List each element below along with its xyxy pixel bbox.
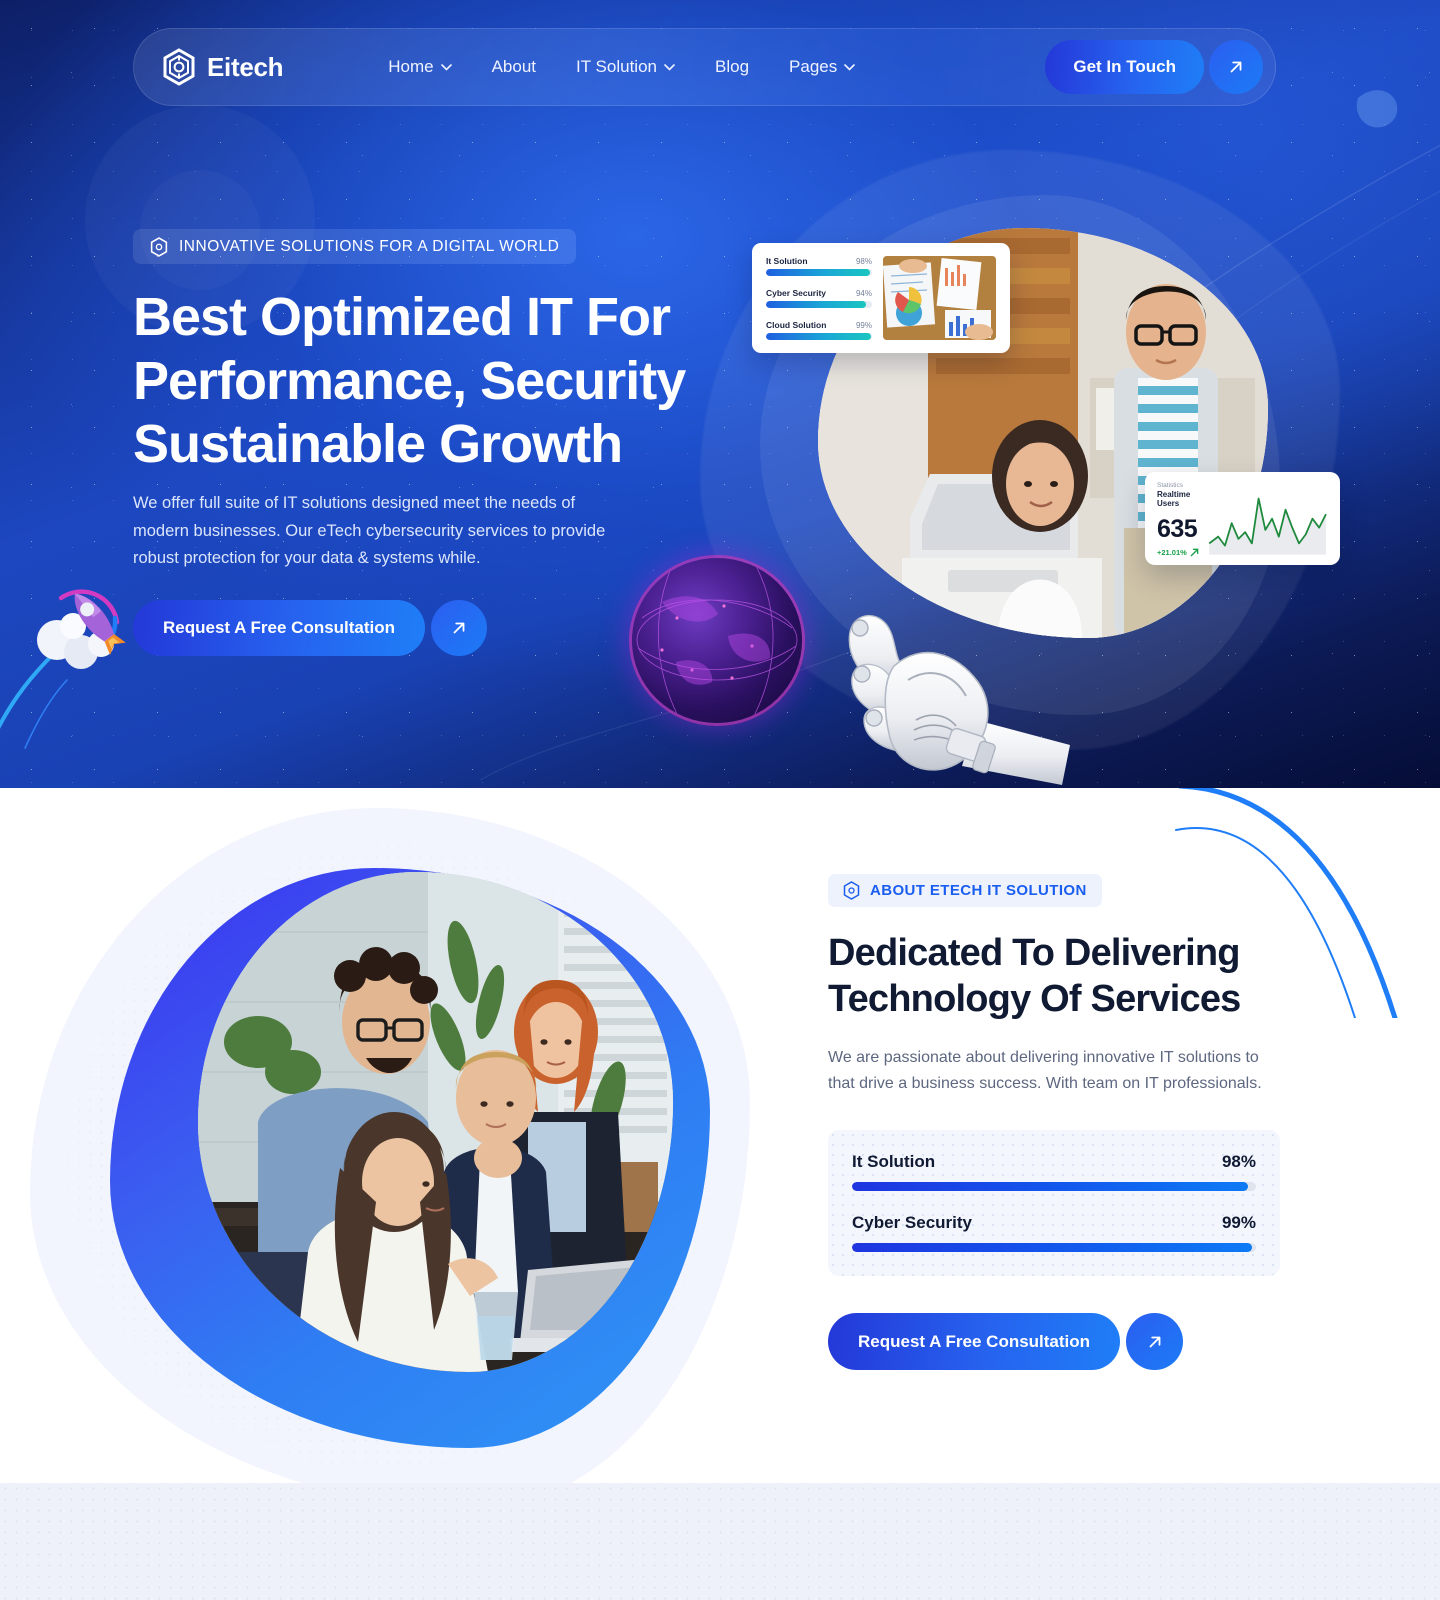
hero-subtitle: We offer full suite of IT solutions desi… (133, 490, 613, 573)
about-badge-label: ABOUT ETECH IT SOLUTION (870, 882, 1087, 899)
hero-progress-label: It Solution (766, 256, 808, 266)
desk-charts-photo (883, 256, 996, 340)
about-skill-track (852, 1243, 1256, 1252)
nav-link-pages-label: Pages (789, 57, 837, 77)
about-subtitle: We are passionate about delivering innov… (828, 1045, 1278, 1097)
arrow-up-right-icon (1146, 1333, 1164, 1351)
hero-progress-card: It Solution 98% Cyber Security 94% Cloud… (752, 243, 1010, 353)
brand-logo[interactable]: Eitech (162, 48, 283, 86)
hero-progress-item: It Solution 98% (766, 256, 872, 276)
hero-stats-card: Statistics Realtime Users 635 +21.01% (1145, 472, 1340, 565)
hero-progress-list: It Solution 98% Cyber Security 94% Cloud… (766, 256, 872, 340)
nav-link-it-solution[interactable]: IT Solution (576, 57, 675, 77)
get-in-touch-button[interactable]: Get In Touch (1045, 40, 1204, 94)
about-skill-track (852, 1182, 1256, 1191)
hero-title: Best Optimized IT For Performance, Secur… (133, 286, 773, 477)
about-content: ABOUT ETECH IT SOLUTION Dedicated To Del… (828, 874, 1288, 1370)
hero-progress-value: 98% (856, 257, 872, 266)
nav-link-blog[interactable]: Blog (715, 57, 749, 77)
hero-stats-number: 635 (1157, 517, 1199, 542)
about-skill-label: It Solution (852, 1152, 935, 1172)
bottom-band (0, 1483, 1440, 1600)
nav-links: Home About IT Solution Blog Pages (388, 57, 855, 77)
about-skill-row: It Solution 98% (852, 1152, 1256, 1191)
hero-progress-item: Cloud Solution 99% (766, 320, 872, 340)
about-title: Dedicated To Delivering Technology Of Se… (828, 931, 1288, 1022)
brand-name: Eitech (207, 52, 283, 83)
trend-up-arrow-icon (1190, 548, 1199, 557)
nav-cta-group: Get In Touch (1045, 40, 1263, 94)
nav-link-pages[interactable]: Pages (789, 57, 855, 77)
about-skill-row: Cyber Security 99% (852, 1213, 1256, 1252)
hero-progress-fill (766, 301, 866, 308)
arrow-up-right-icon (450, 619, 468, 637)
main-navigation: Eitech Home About IT Solution Blog Pages (133, 28, 1276, 106)
chevron-down-icon (441, 64, 452, 71)
hero-badge-label: INNOVATIVE SOLUTIONS FOR A DIGITAL WORLD (179, 238, 559, 256)
hero-stats-delta-value: +21.01% (1157, 548, 1187, 557)
hero-stats-sparkline (1207, 494, 1328, 555)
chevron-down-icon (844, 64, 855, 71)
chevron-down-icon (664, 64, 675, 71)
hero-progress-label: Cloud Solution (766, 320, 826, 330)
hero-progress-fill (766, 333, 871, 340)
about-badge: ABOUT ETECH IT SOLUTION (828, 874, 1102, 907)
about-request-consultation-button[interactable]: Request A Free Consultation (828, 1313, 1120, 1370)
hero-progress-track (766, 269, 872, 276)
get-in-touch-arrow-button[interactable] (1209, 40, 1263, 94)
about-skill-fill (852, 1182, 1248, 1191)
nav-link-it-solution-label: IT Solution (576, 57, 657, 77)
nav-link-home[interactable]: Home (388, 57, 451, 77)
hero-progress-thumbnail (883, 256, 996, 340)
hero-progress-track (766, 301, 872, 308)
globe-network-icon (632, 558, 802, 723)
hero-progress-fill (766, 269, 870, 276)
hero-progress-label: Cyber Security (766, 288, 826, 298)
hero-section: Eitech Home About IT Solution Blog Pages (0, 0, 1440, 788)
hero-stats-kicker: Statistics (1157, 482, 1199, 489)
hexagon-logo-icon (162, 48, 196, 86)
hero-request-consultation-arrow-button[interactable] (431, 600, 487, 656)
arrow-up-right-icon (1227, 58, 1245, 76)
nav-link-about-label: About (492, 57, 536, 77)
about-skill-value: 98% (1222, 1152, 1256, 1172)
hero-stats-left: Statistics Realtime Users 635 +21.01% (1157, 482, 1199, 555)
hero-progress-item: Cyber Security 94% (766, 288, 872, 308)
hexagon-logo-icon (843, 881, 860, 900)
about-skills-box: It Solution 98% Cyber Security 99% (828, 1130, 1280, 1276)
hero-progress-value: 94% (856, 289, 872, 298)
nav-link-home-label: Home (388, 57, 433, 77)
hero-stats-delta: +21.01% (1157, 548, 1199, 557)
hero-stats-title: Realtime Users (1157, 490, 1199, 508)
robot-hand-illustration (790, 570, 1070, 785)
hero-badge: INNOVATIVE SOLUTIONS FOR A DIGITAL WORLD (133, 229, 576, 264)
about-cta-group: Request A Free Consultation (828, 1313, 1288, 1370)
about-section: ABOUT ETECH IT SOLUTION Dedicated To Del… (0, 788, 1440, 1600)
rocket-decoration-icon (0, 560, 195, 750)
about-skill-value: 99% (1222, 1213, 1256, 1233)
about-request-consultation-arrow-button[interactable] (1126, 1313, 1183, 1370)
hero-progress-track (766, 333, 872, 340)
globe-decoration (632, 558, 802, 723)
hexagon-logo-icon (150, 237, 168, 257)
about-skill-label: Cyber Security (852, 1213, 972, 1233)
about-skill-fill (852, 1243, 1252, 1252)
nav-link-about[interactable]: About (492, 57, 536, 77)
hero-progress-value: 99% (856, 321, 872, 330)
nav-link-blog-label: Blog (715, 57, 749, 77)
